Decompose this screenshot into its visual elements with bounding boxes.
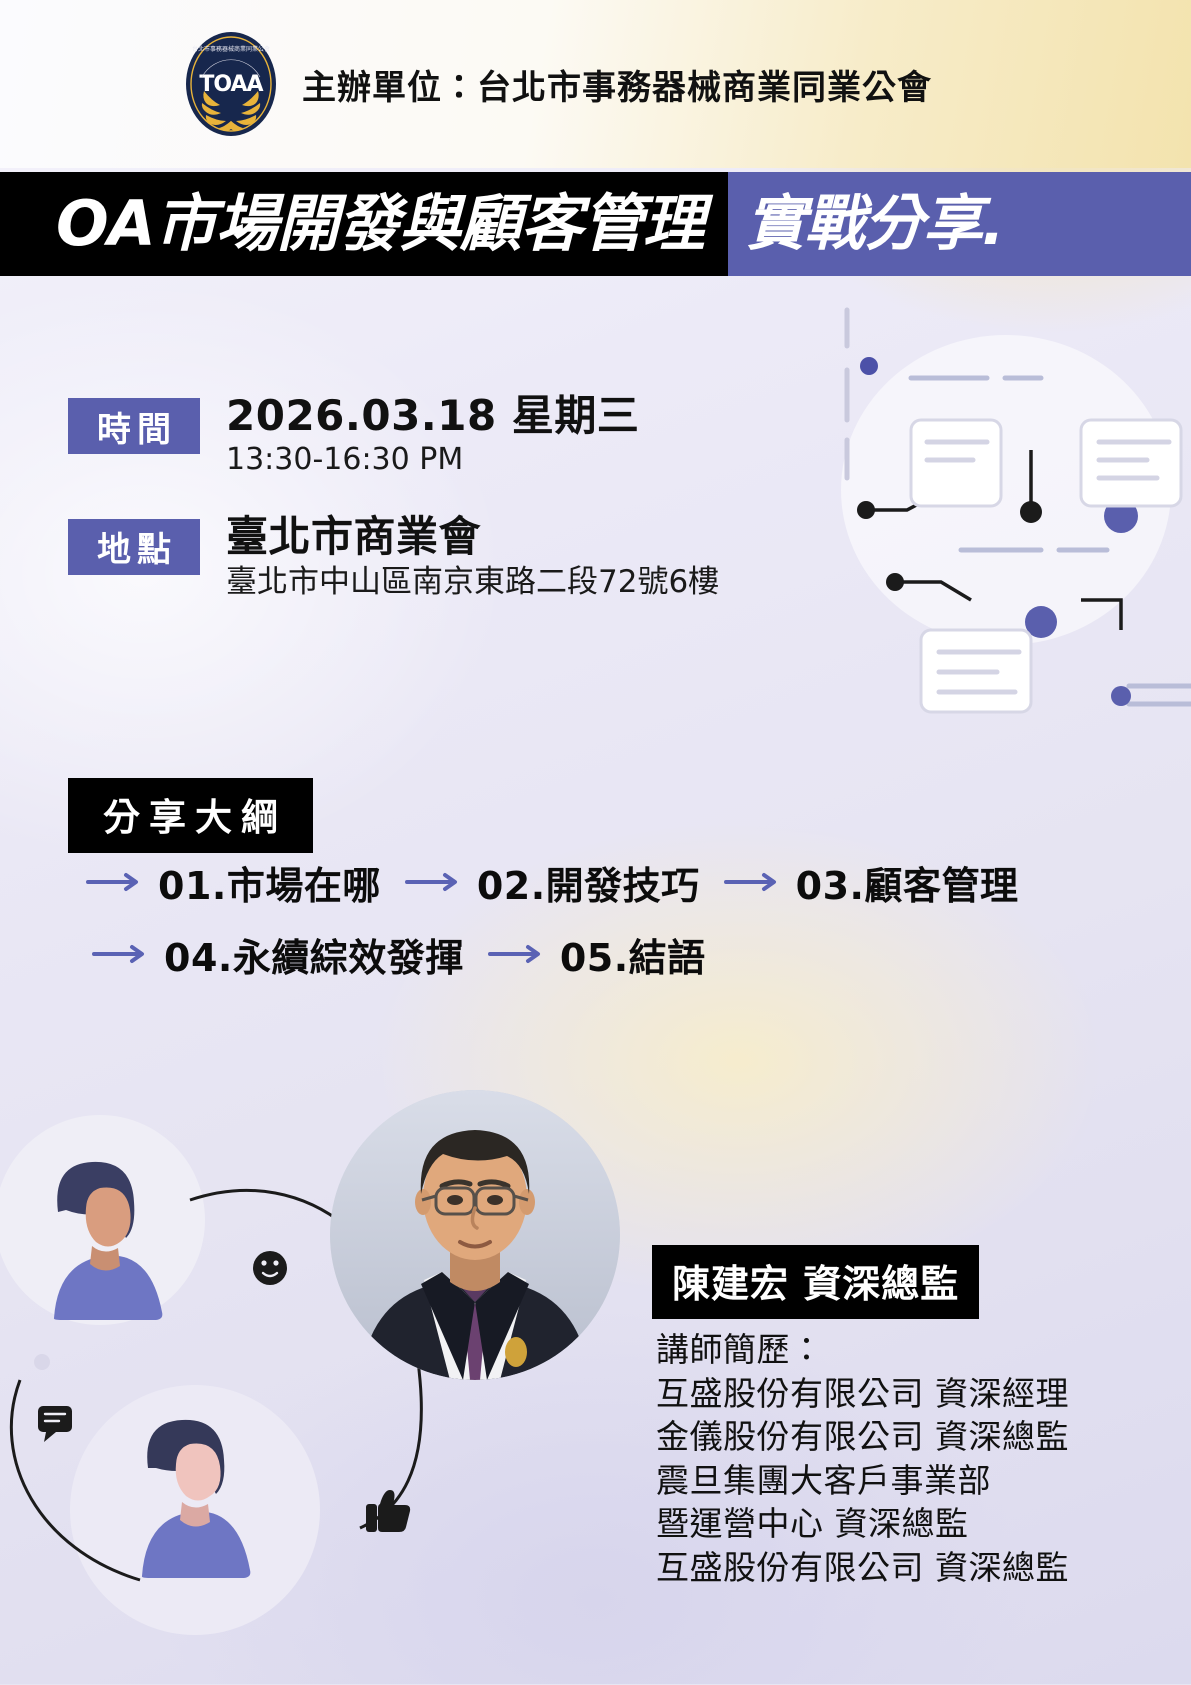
place-venue: 臺北市商業會 [226,513,719,560]
bio-line: 金儀股份有限公司 資深總監 [656,1415,1086,1459]
event-info: 時間 2026.03.18 星期三 13:30-16:30 PM 地點 臺北市商… [68,392,828,635]
bio-line: 暨運營中心 資深總監 [656,1502,1086,1546]
arrow-right-icon [86,872,144,892]
outline-row-1: 01.市場在哪 02.開發技巧 03.顧客管理 [72,846,1132,918]
arrow-right-icon [724,872,782,892]
time-tag: 時間 [68,398,200,454]
time-range: 13:30-16:30 PM [226,441,639,479]
outline-list: 01.市場在哪 02.開發技巧 03.顧客管理 04.永續綜效發揮 05.結語 [72,846,1132,990]
title-sub: 實戰分享. [746,194,1004,254]
outline-badge: 分享大綱 [68,778,313,853]
speaker-bio: 講師簡歷： 互盛股份有限公司 資深經理 金儀股份有限公司 資深總監 震旦集團大客… [656,1328,1086,1589]
tech-illustration [791,300,1191,740]
info-row-place: 地點 臺北市商業會 臺北市中山區南京東路二段72號6樓 [68,513,828,602]
outline-item-05: 05.結語 [560,927,706,982]
speaker-name-badge: 陳建宏 資深總監 [652,1245,979,1319]
title-banner: OA市場開發與顧客管理 實戰分享. [0,172,1191,276]
svg-text:台北市事務器械商業同業公會: 台北市事務器械商業同業公會 [192,45,270,53]
bio-line: 互盛股份有限公司 資深經理 [656,1372,1086,1416]
arrow-right-icon [92,944,150,964]
title-black-section: OA市場開發與顧客管理 [0,172,728,276]
title-accent-section: 實戰分享. [728,172,1191,276]
bio-line: 震旦集團大客戶事業部 [656,1459,1086,1503]
place-tag: 地點 [68,519,200,575]
time-date: 2026.03.18 星期三 [226,392,639,439]
title-main: OA市場開發與顧客管理 [56,193,704,255]
bio-title: 講師簡歷： [656,1328,1086,1372]
info-row-time: 時間 2026.03.18 星期三 13:30-16:30 PM [68,392,828,479]
time-body: 2026.03.18 星期三 13:30-16:30 PM [226,392,639,479]
outline-item-01: 01.市場在哪 [158,855,381,910]
outline-item-03: 03.顧客管理 [796,855,1019,910]
svg-text:TOAA: TOAA [199,72,263,97]
place-body: 臺北市商業會 臺北市中山區南京東路二段72號6樓 [226,513,719,602]
arrow-right-icon [405,872,463,892]
outline-item-02: 02.開發技巧 [477,855,700,910]
place-address: 臺北市中山區南京東路二段72號6樓 [226,563,719,602]
speaker-photo [330,1090,620,1380]
outline-row-2: 04.永續綜效發揮 05.結語 [72,918,1132,990]
organizer-text: 主辦單位：台北市事務器械商業同業公會 [302,60,932,109]
arrow-right-icon [488,944,546,964]
outline-item-04: 04.永續綜效發揮 [164,927,464,982]
bio-line: 互盛股份有限公司 資深總監 [656,1546,1086,1590]
toaa-logo: TOAA 台北市事務器械商業同業公會 [182,29,280,139]
poster-header: TOAA 台北市事務器械商業同業公會 主辦單位：台北市事務器械商業同業公會 [0,0,1191,168]
